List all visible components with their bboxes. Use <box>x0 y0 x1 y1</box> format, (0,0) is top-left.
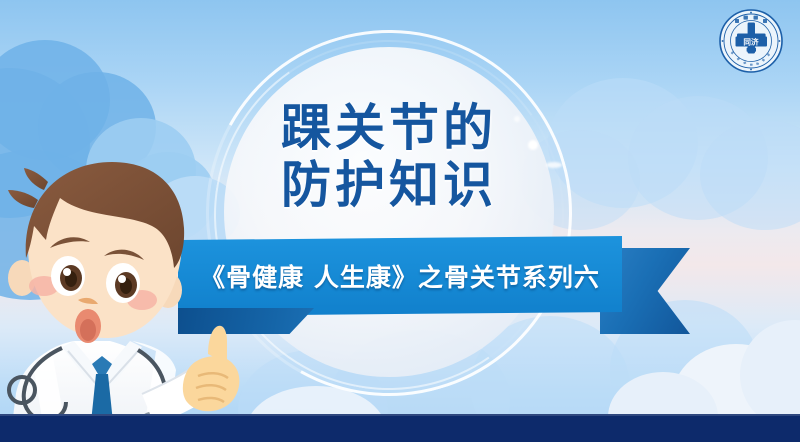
svg-text:同济: 同济 <box>743 37 759 47</box>
bottom-bar <box>0 414 800 442</box>
title-card-stage: 踝关节的 防护知识 《骨健康 人生康》之骨关节系列六 <box>0 0 800 442</box>
bottom-bar-highlight <box>0 414 800 416</box>
eye-left <box>51 256 85 296</box>
cartoon-doctor <box>0 150 292 442</box>
pointing-hand <box>183 326 240 412</box>
hospital-logo: 同济 <box>718 8 784 74</box>
eye-right <box>106 263 140 303</box>
title-line-1: 踝关节的 <box>224 100 554 157</box>
doctor-head <box>8 162 184 343</box>
